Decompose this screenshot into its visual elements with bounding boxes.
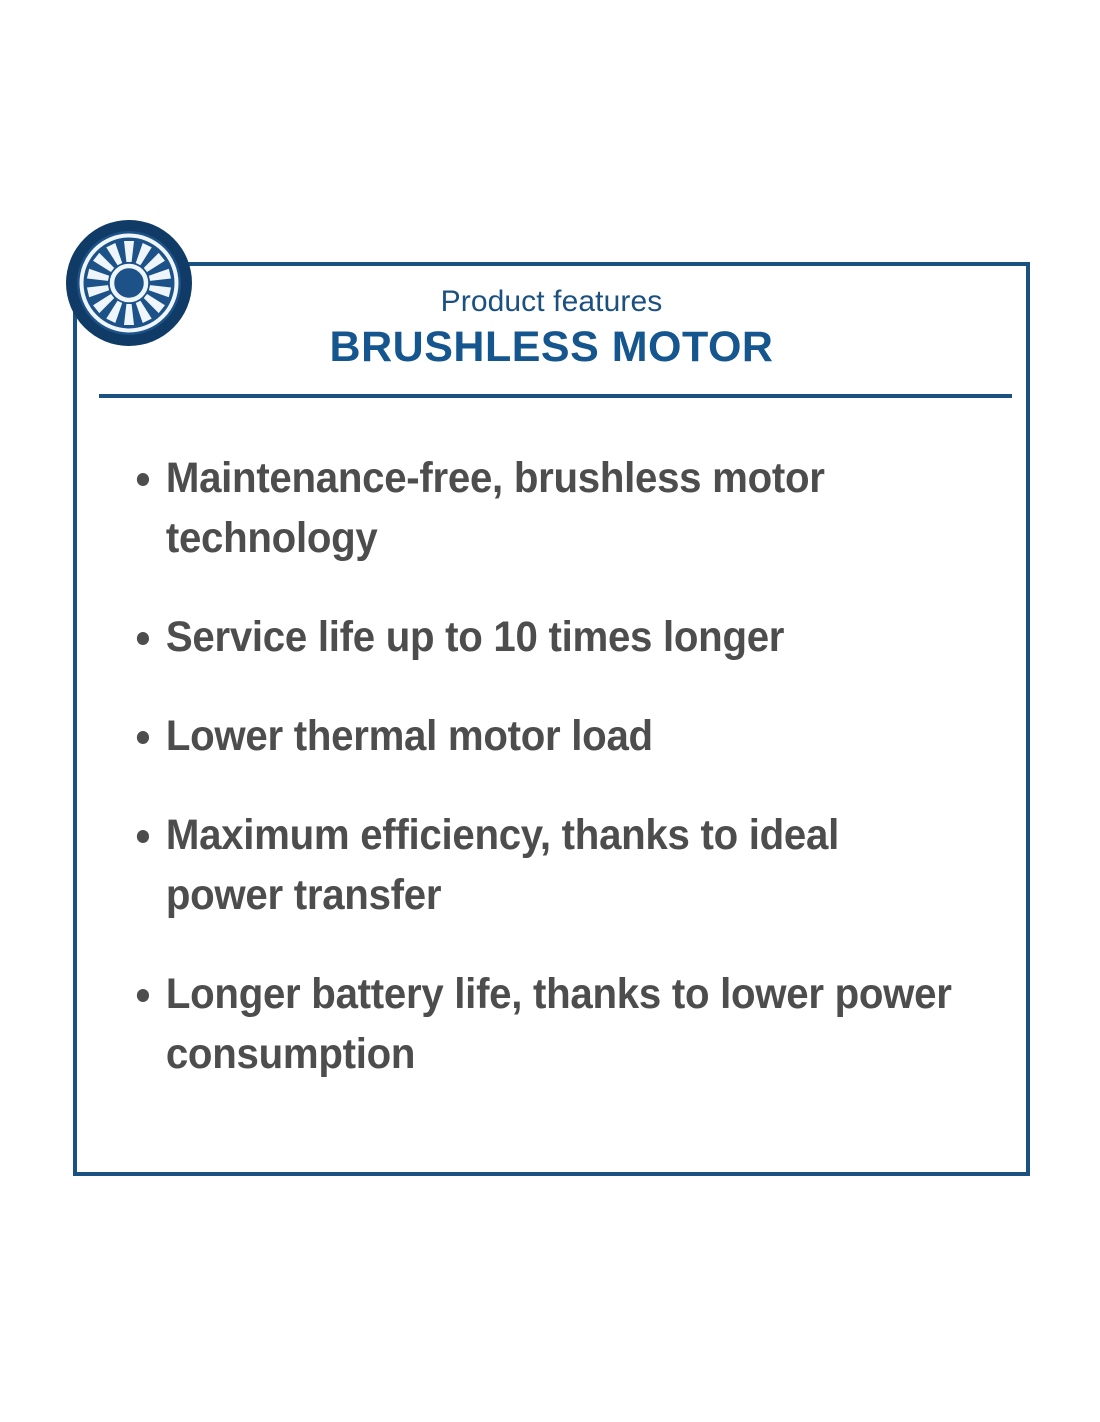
brushless-motor-rotor-icon [66,220,192,346]
page-title: BRUSHLESS MOTOR [77,322,1026,372]
list-item: Lower thermal motor load [135,706,958,766]
list-item: Maintenance-free, brushless motor techno… [135,448,958,568]
list-item-label: Lower thermal motor load [166,712,653,760]
card-header: Product features BRUSHLESS MOTOR [77,266,1026,372]
list-item: Service life up to 10 times longer [135,607,958,667]
list-item-label: Service life up to 10 times longer [166,613,784,661]
eyebrow-label: Product features [77,284,1026,320]
bullet-dot-icon [137,731,149,744]
bullet-dot-icon [137,989,149,1002]
list-item-label: Maintenance-free, brushless motor techno… [166,454,825,562]
bullet-dot-icon [137,632,149,645]
product-features-card: Product features BRUSHLESS MOTOR Mainten… [73,262,1030,1176]
feature-list: Maintenance-free, brushless motor techno… [135,448,1015,1084]
bullet-dot-icon [137,473,149,486]
list-item-label: Longer battery life, thanks to lower pow… [166,970,952,1078]
header-divider [99,394,1012,398]
list-item: Maximum efficiency, thanks to ideal powe… [135,805,958,925]
list-item-label: Maximum efficiency, thanks to ideal powe… [166,811,839,919]
list-item: Longer battery life, thanks to lower pow… [135,964,958,1084]
bullet-dot-icon [137,830,149,843]
